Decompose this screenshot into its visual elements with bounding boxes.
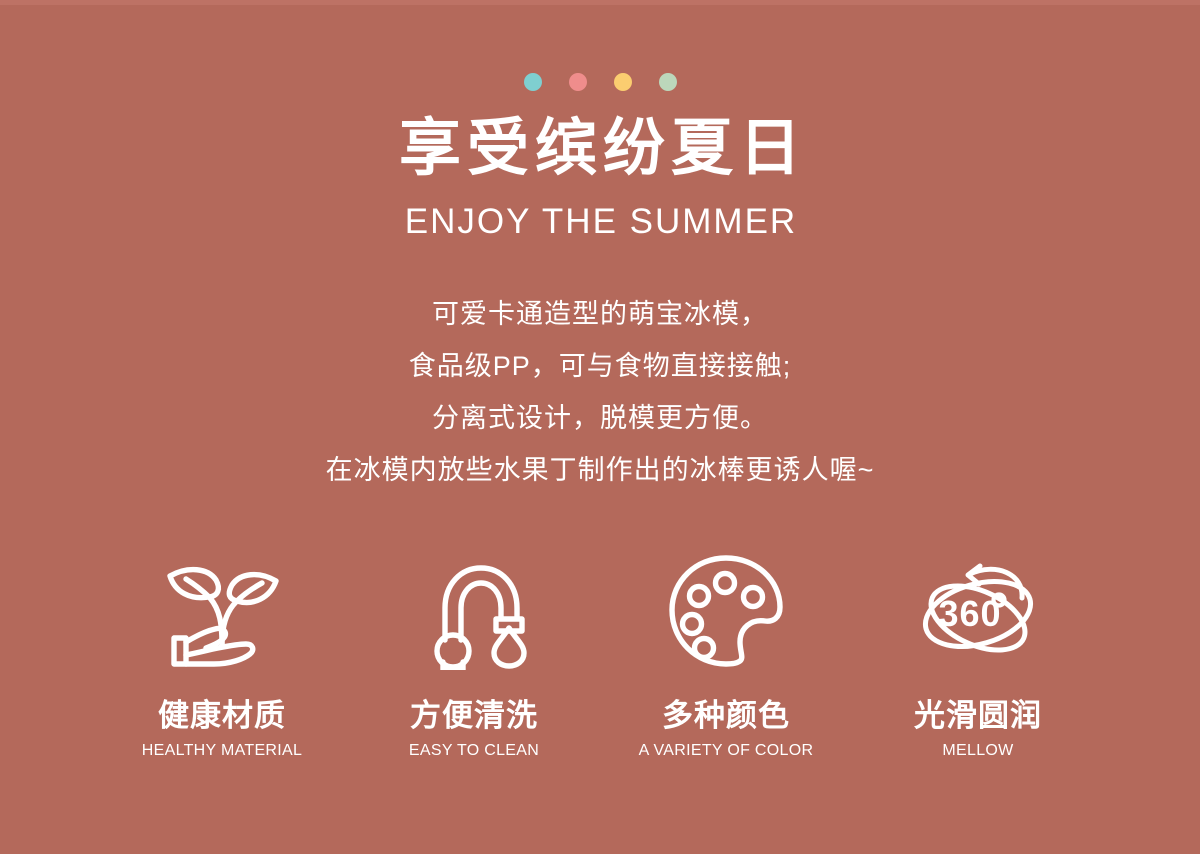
feature-label-cn: 光滑圆润	[914, 698, 1042, 734]
description-line: 在冰模内放些水果丁制作出的冰棒更诱人喔~	[0, 444, 1200, 496]
feature-item-mellow: 360 光滑圆润 MELLOW	[852, 552, 1104, 760]
promo-banner: 享受缤纷夏日 ENJOY THE SUMMER 可爱卡通造型的萌宝冰模， 食品级…	[0, 0, 1200, 854]
feature-label-en: EASY TO CLEAN	[409, 741, 539, 760]
feature-item-easy-to-clean: 方便清洗 EASY TO CLEAN	[348, 552, 600, 760]
dot-green	[659, 73, 677, 91]
faucet-drop-icon	[404, 552, 544, 670]
feature-label-en: HEALTHY MATERIAL	[142, 741, 302, 760]
feature-label-en: A VARIETY OF COLOR	[639, 741, 814, 760]
description-line: 可爱卡通造型的萌宝冰模，	[0, 288, 1200, 340]
page-title-en: ENJOY THE SUMMER	[0, 201, 1200, 243]
feature-item-healthy-material: 健康材质 HEALTHY MATERIAL	[96, 552, 348, 760]
feature-label-cn: 健康材质	[158, 698, 286, 734]
feature-list: 健康材质 HEALTHY MATERIAL 方便清洗	[96, 552, 1104, 760]
rotate-360-icon: 360	[908, 552, 1048, 670]
paint-palette-icon	[656, 552, 796, 670]
feature-label-en: MELLOW	[942, 741, 1013, 760]
dot-yellow	[614, 73, 632, 91]
top-edge-strip	[0, 0, 1200, 5]
feature-item-variety-of-color: 多种颜色 A VARIETY OF COLOR	[600, 552, 852, 760]
page-title-cn: 享受缤纷夏日	[0, 113, 1200, 185]
feature-label-cn: 多种颜色	[662, 698, 790, 734]
description-block: 可爱卡通造型的萌宝冰模， 食品级PP，可与食物直接接触; 分离式设计，脱模更方便…	[0, 288, 1200, 496]
hand-plant-icon	[152, 552, 292, 670]
feature-label-cn: 方便清洗	[410, 698, 538, 734]
description-line: 分离式设计，脱模更方便。	[0, 392, 1200, 444]
decorative-dots-row	[0, 73, 1200, 91]
dot-coral	[569, 73, 587, 91]
description-line: 食品级PP，可与食物直接接触;	[0, 340, 1200, 392]
dot-teal	[524, 73, 542, 91]
